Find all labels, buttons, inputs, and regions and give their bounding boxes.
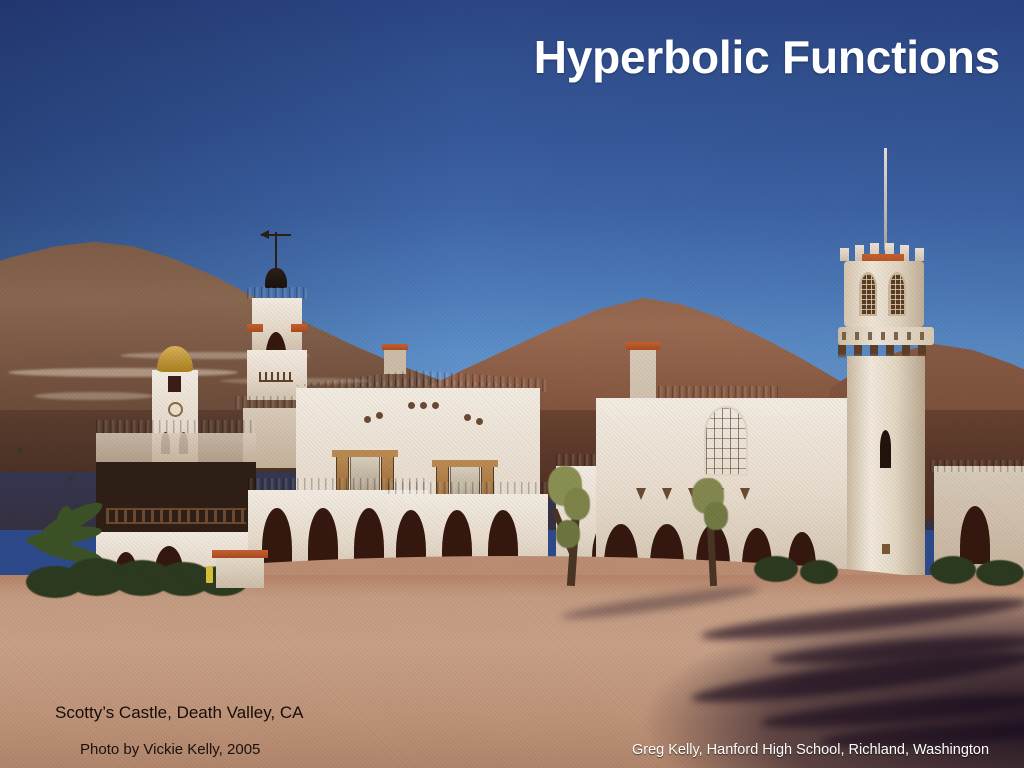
balcony-rail [259, 372, 293, 382]
joshua-tree-tuft [704, 502, 728, 530]
tower-lattice-window [888, 272, 906, 316]
clock-face [168, 402, 183, 417]
tower-slit-window [880, 430, 891, 468]
tower-upper-drum [844, 261, 924, 327]
cupola [265, 268, 287, 288]
shrub [976, 560, 1024, 586]
building-round-tower [838, 248, 934, 578]
arched-wood-door [704, 406, 748, 476]
tower-corbel-band-detail [842, 332, 930, 340]
photo-caption-location: Scotty’s Castle, Death Valley, CA [55, 703, 304, 723]
mountain-striation [8, 368, 238, 377]
building-right-stub-roof [930, 460, 1024, 472]
tower-cornice [291, 324, 307, 332]
golden-dome [157, 346, 193, 372]
shrub [754, 556, 798, 582]
window-lintel [432, 460, 498, 467]
building-right-wing [596, 392, 856, 582]
chimney [384, 348, 406, 374]
weathervane-icon [275, 232, 277, 268]
tree-shadow-mass [624, 588, 1024, 768]
low-wall-cap [212, 550, 268, 558]
author-credit: Greg Kelly, Hanford High School, Richlan… [632, 742, 989, 758]
joshua-tree-tuft [564, 488, 590, 520]
mountain-striation [34, 392, 154, 400]
fire-hydrant-icon [206, 566, 213, 583]
shrub [800, 560, 838, 584]
slide-title: Hyperbolic Functions [0, 33, 1000, 81]
photo-caption-credit: Photo by Vickie Kelly, 2005 [80, 741, 260, 758]
photo-scottys-castle [0, 0, 1024, 768]
flagpole-icon [884, 148, 887, 250]
low-wall [216, 556, 264, 588]
slide-canvas: Hyperbolic Functions Scotty’s Castle, De… [0, 0, 1024, 768]
shrub [930, 556, 976, 584]
tower-ornament [882, 544, 890, 554]
porch-railing [106, 508, 246, 524]
tower-lattice-window [859, 272, 877, 316]
tower-cornice [247, 324, 263, 332]
joshua-tree-tuft [556, 520, 580, 548]
window-lintel [332, 450, 398, 457]
